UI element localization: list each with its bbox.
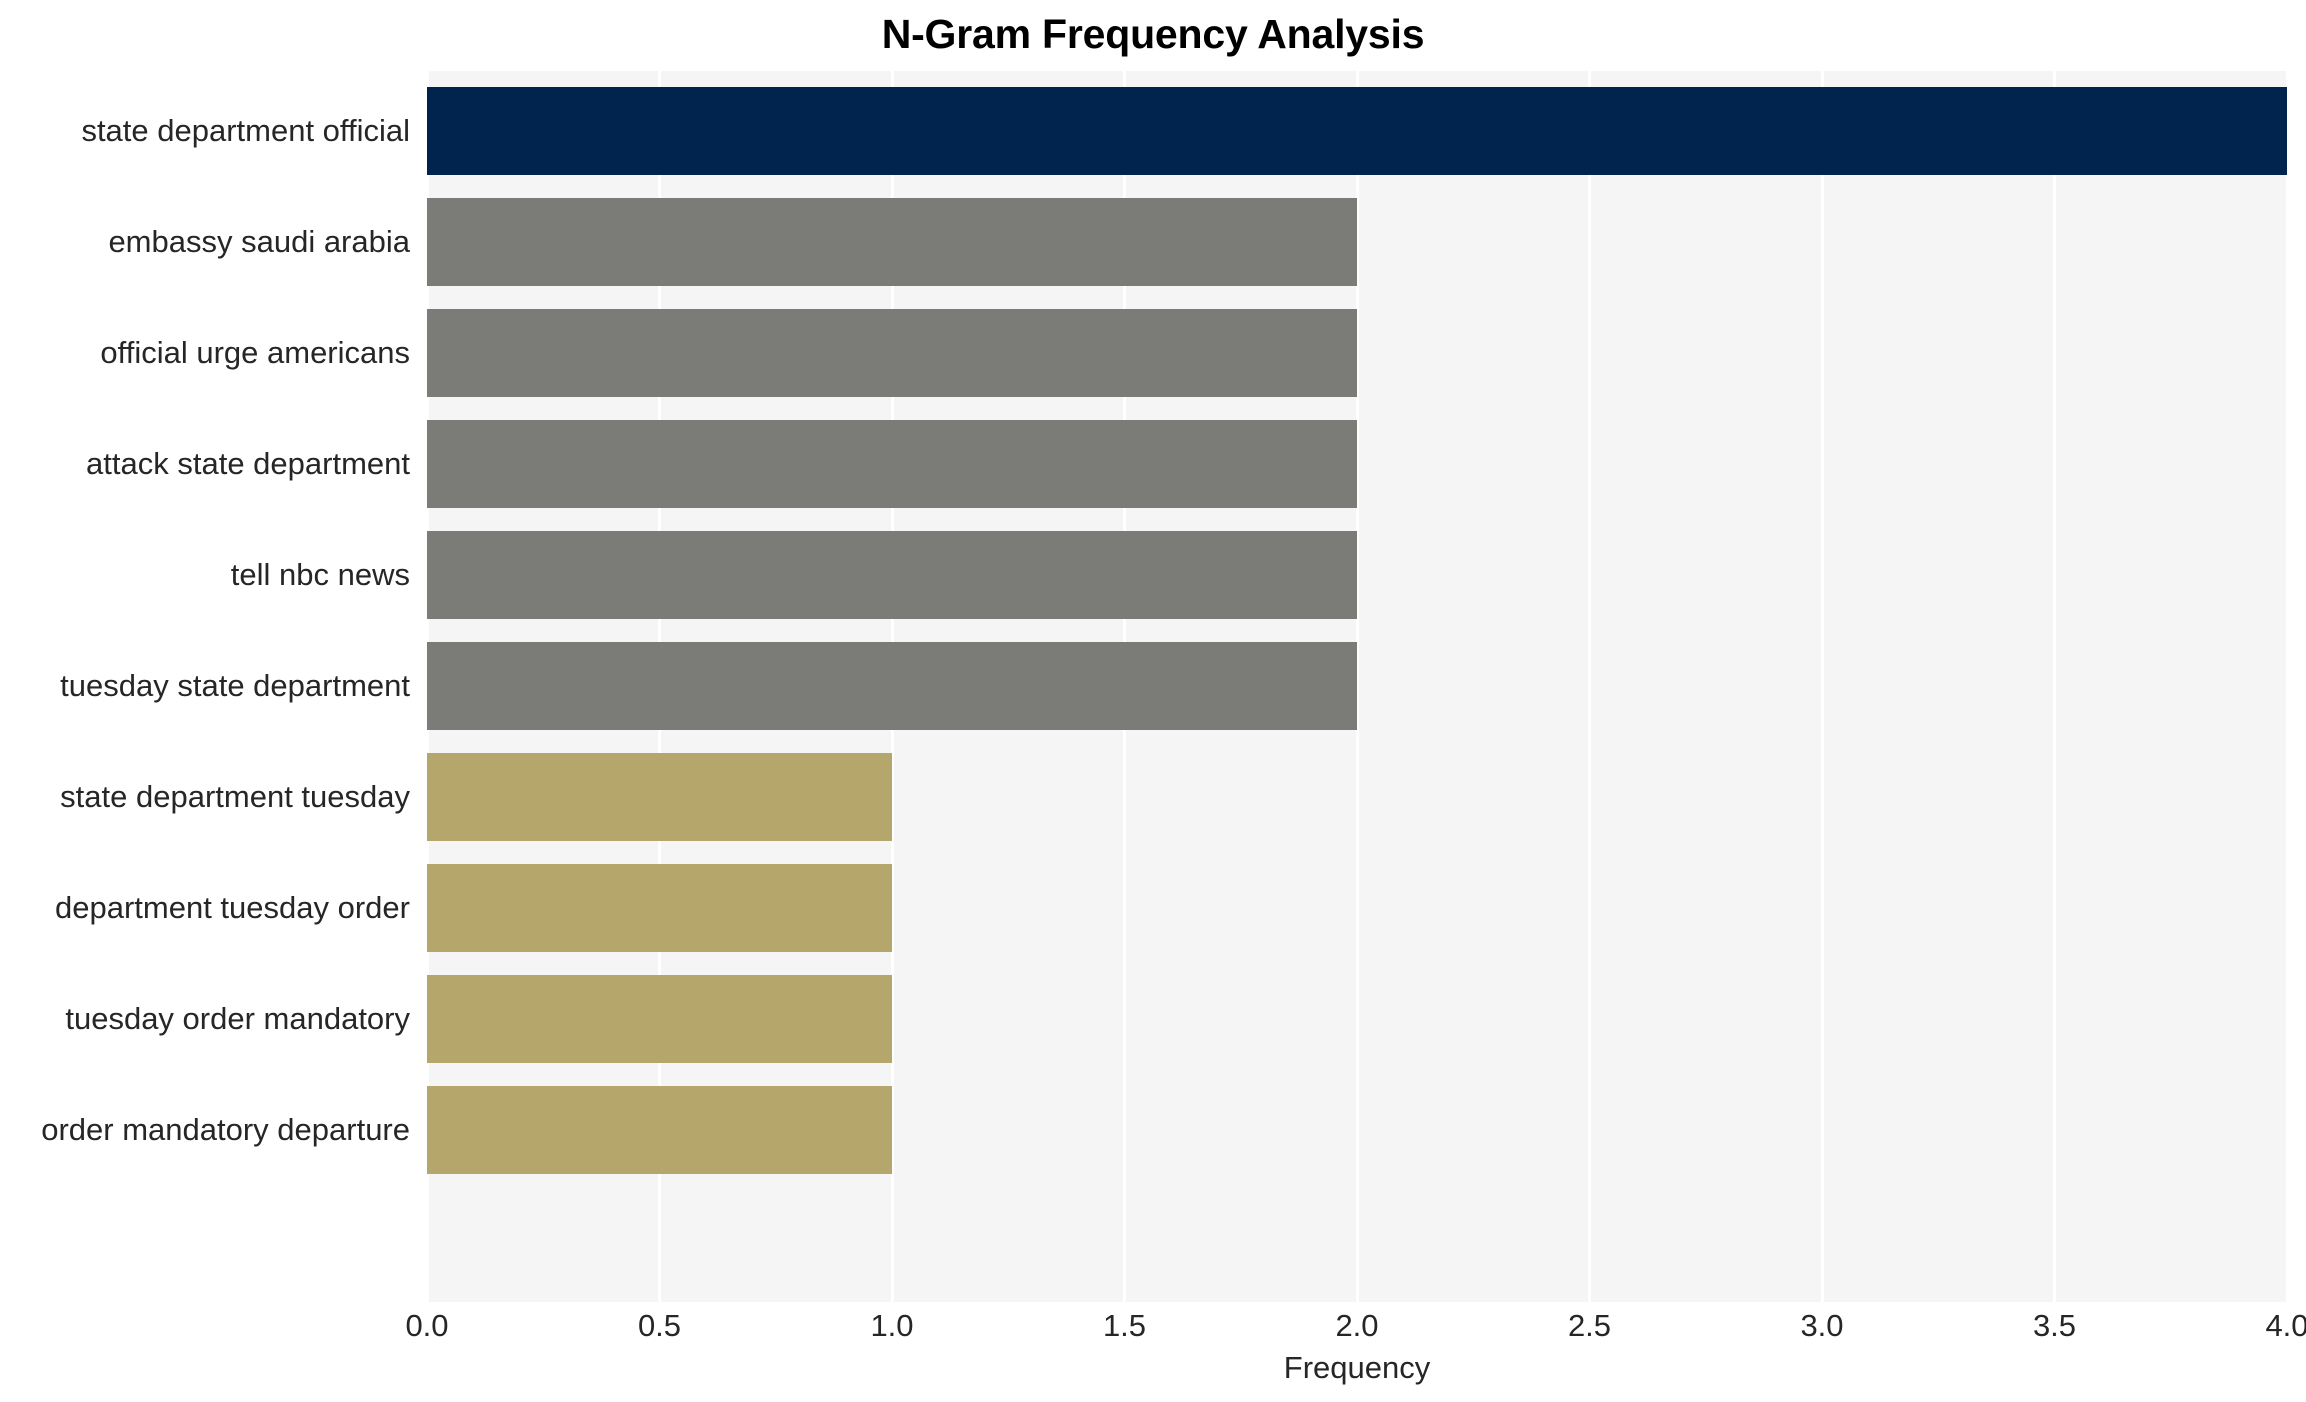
bar-1[interactable] <box>427 198 1357 286</box>
bar-5[interactable] <box>427 642 1357 730</box>
bar-9[interactable] <box>427 1086 892 1174</box>
x-tick-label-0.0: 0.0 <box>405 1306 448 1346</box>
x-tick-label-0.5: 0.5 <box>638 1306 681 1346</box>
y-tick-label-2: official urge americans <box>0 336 410 370</box>
y-tick-label-8: tuesday order mandatory <box>0 1002 410 1036</box>
y-axis-tick-labels: state department officialembassy saudi a… <box>0 71 410 1302</box>
y-tick-label-6: state department tuesday <box>0 780 410 814</box>
y-tick-label-7: department tuesday order <box>0 891 410 925</box>
x-tick-label-4.0: 4.0 <box>2265 1306 2306 1346</box>
bar-0[interactable] <box>427 87 2287 175</box>
bar-2[interactable] <box>427 309 1357 397</box>
y-tick-label-9: order mandatory departure <box>0 1113 410 1147</box>
x-tick-label-1.0: 1.0 <box>870 1306 913 1346</box>
page-title: N-Gram Frequency Analysis <box>0 6 2306 62</box>
chart-figure: N-Gram Frequency Analysis state departme… <box>0 0 2306 1402</box>
bar-3[interactable] <box>427 420 1357 508</box>
bar-4[interactable] <box>427 531 1357 619</box>
y-tick-label-1: embassy saudi arabia <box>0 225 410 259</box>
y-tick-label-3: attack state department <box>0 447 410 481</box>
x-tick-label-1.5: 1.5 <box>1103 1306 1146 1346</box>
y-tick-label-5: tuesday state department <box>0 669 410 703</box>
x-tick-label-3.5: 3.5 <box>2033 1306 2076 1346</box>
y-tick-label-0: state department official <box>0 114 410 148</box>
y-tick-label-4: tell nbc news <box>0 558 410 592</box>
x-axis-tick-labels: 0.00.51.01.52.02.53.03.54.0 <box>427 1306 2287 1354</box>
x-tick-label-3.0: 3.0 <box>1800 1306 1843 1346</box>
x-tick-label-2.5: 2.5 <box>1568 1306 1611 1346</box>
bar-7[interactable] <box>427 864 892 952</box>
bar-8[interactable] <box>427 975 892 1063</box>
bars-container <box>427 71 2287 1302</box>
plot-area <box>427 71 2287 1302</box>
x-tick-label-2.0: 2.0 <box>1335 1306 1378 1346</box>
x-axis-title: Frequency <box>427 1348 2287 1388</box>
bar-6[interactable] <box>427 753 892 841</box>
